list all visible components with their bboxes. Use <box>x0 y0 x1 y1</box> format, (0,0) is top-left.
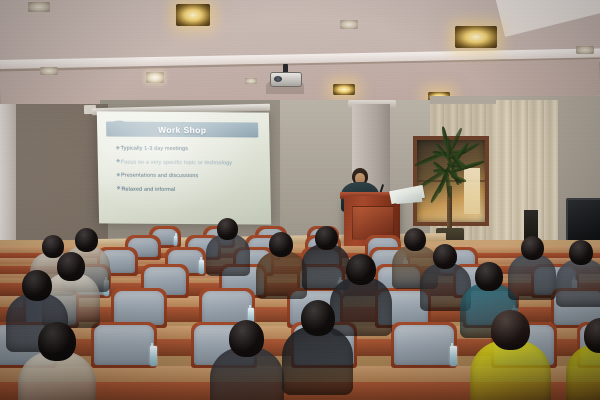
attendee-right-4 <box>508 236 556 299</box>
attendee-left-5 <box>18 322 96 400</box>
bullet-text: Relaxed and informal <box>121 186 264 193</box>
attendee-mid-6 <box>210 320 284 400</box>
attendee-head <box>229 320 264 357</box>
attendee-head <box>22 270 52 301</box>
attendee-head <box>315 226 338 250</box>
attendee-head <box>75 228 98 252</box>
chair-back <box>94 325 154 365</box>
slide-bullet-3: ❖Presentations and discussions <box>116 173 264 180</box>
ceiling-light-3 <box>340 20 358 29</box>
slide-bullet-list: ❖Typically 1-3 day meetings❖Focus on a v… <box>116 146 265 201</box>
attendee-mid-2 <box>256 232 307 298</box>
slide-title: Work Shop <box>158 124 207 134</box>
conference-room-photo: Work Shop ❖Typically 1-3 day meetings❖Fo… <box>0 0 600 400</box>
attendee-head <box>269 232 293 257</box>
slide-bullet-2: ❖Focus on a very specific topic or techn… <box>116 159 264 166</box>
bullet-text: Focus on a very specific topic or techno… <box>121 159 264 166</box>
attendee-head <box>521 236 544 260</box>
attendee-head <box>217 218 238 240</box>
ceiling-light-10 <box>245 78 257 84</box>
attendee-mid-1 <box>206 218 250 275</box>
attendee-head <box>38 322 75 361</box>
attendee-head <box>301 300 335 336</box>
attendee-head <box>569 240 593 265</box>
ceiling-light-1 <box>28 2 50 12</box>
attendee-right-6 <box>470 310 551 400</box>
water-bottle <box>450 346 457 366</box>
water-bottle <box>174 236 177 246</box>
chair-back <box>114 291 164 325</box>
attendee-head <box>433 244 457 269</box>
attendee-right-7 <box>566 318 600 400</box>
water-bottle <box>199 260 204 274</box>
left-column <box>0 104 16 256</box>
slide-bullet-1: ❖Typically 1-3 day meetings <box>116 146 264 153</box>
projection-screen: Work Shop ❖Typically 1-3 day meetings❖Fo… <box>97 111 271 224</box>
attendee-head <box>475 262 503 291</box>
attendee-torso <box>556 259 600 307</box>
ceiling-light-2 <box>176 4 210 26</box>
bullet-text: Typically 1-3 day meetings <box>121 146 264 153</box>
chair-back <box>394 325 454 365</box>
attendee-right-5 <box>556 240 600 306</box>
attendee-torso <box>206 234 250 276</box>
window-pane <box>464 168 480 214</box>
slide-bullet-4: ❖Relaxed and informal <box>116 186 264 193</box>
attendee-torso <box>256 251 307 299</box>
water-bottle <box>150 346 157 366</box>
attendee-torso <box>282 326 353 394</box>
attendee-torso <box>508 254 556 300</box>
attendee-mid-5 <box>282 300 353 393</box>
attendee-head <box>346 254 376 285</box>
ceiling-light-6 <box>40 67 58 75</box>
attendee-head <box>491 310 530 350</box>
bullet-text: Presentations and discussions <box>121 173 264 180</box>
ceiling-light-7 <box>146 72 164 83</box>
ceiling-light-5 <box>576 46 594 54</box>
ceiling-light-4 <box>455 26 497 48</box>
attendee-head <box>584 318 600 353</box>
slide-title-bar: Work Shop <box>106 121 258 137</box>
ceiling-light-8 <box>333 84 355 95</box>
projector-lens-icon <box>274 76 282 82</box>
